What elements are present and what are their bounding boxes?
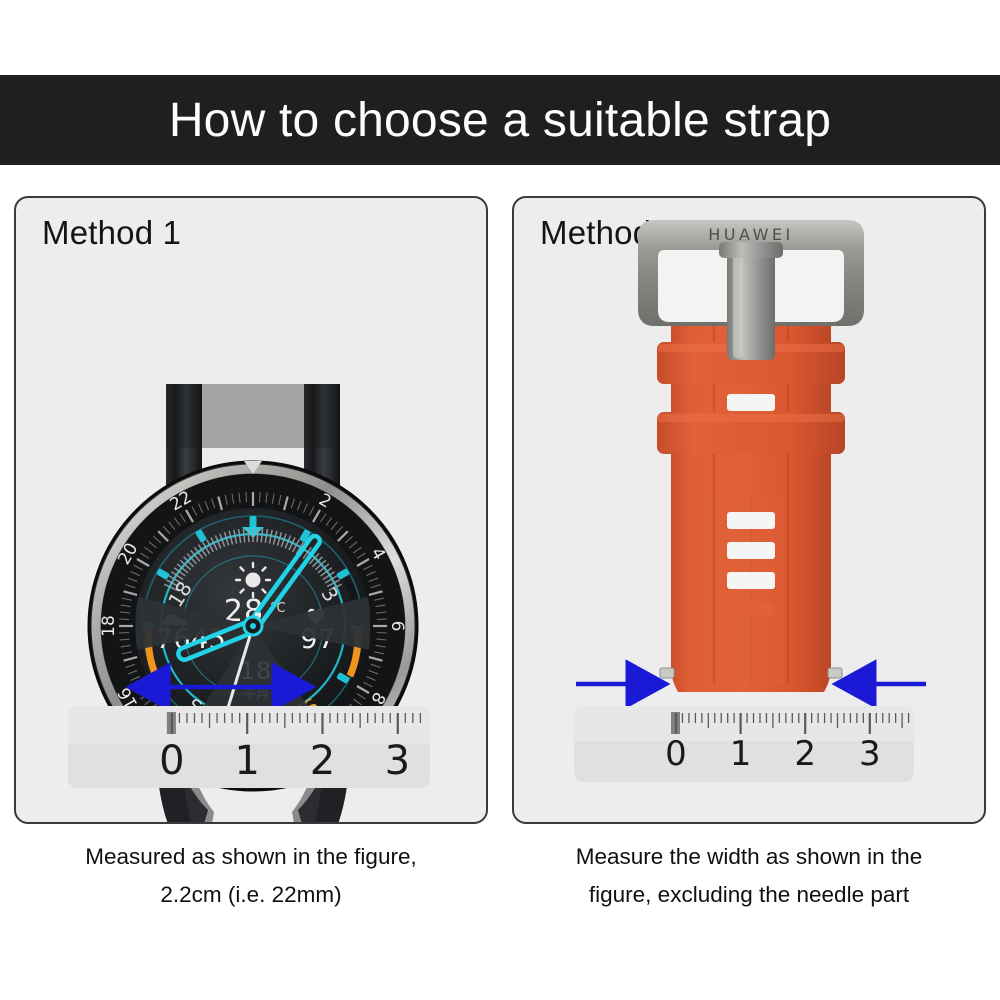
caption-line-2: figure, excluding the needle part xyxy=(512,876,986,914)
panel-method-1: Method 1 xyxy=(14,196,488,824)
ruler-label-0: 0 xyxy=(665,734,687,774)
caption-method-1: Measured as shown in the figure, 2.2cm (… xyxy=(14,838,488,914)
header-bar: How to choose a suitable strap xyxy=(0,76,1000,164)
ruler-label-2: 2 xyxy=(310,738,335,784)
ruler-label-3: 3 xyxy=(859,734,881,774)
ruler-numbers-method-1: 0 1 2 3 xyxy=(68,738,430,784)
panel-method-2: Method 2 xyxy=(512,196,986,824)
ruler-label-1: 1 xyxy=(730,734,752,774)
ruler-method-1: 0 1 2 3 xyxy=(68,706,430,788)
caption-line-1: Measure the width as shown in the xyxy=(512,838,986,876)
ruler-label-1: 1 xyxy=(234,738,259,784)
caption-line-2: 2.2cm (i.e. 22mm) xyxy=(14,876,488,914)
ruler-method-2: 0 1 2 3 xyxy=(574,706,914,782)
caption-method-2: Measure the width as shown in the figure… xyxy=(512,838,986,914)
ruler-numbers-method-2: 0 1 2 3 xyxy=(574,734,914,778)
page-title: How to choose a suitable strap xyxy=(169,93,831,148)
caption-line-1: Measured as shown in the figure, xyxy=(14,838,488,876)
methods-container: Method 1 xyxy=(0,196,1000,826)
ruler-label-0: 0 xyxy=(159,738,184,784)
ruler-label-3: 3 xyxy=(385,738,410,784)
ruler-label-2: 2 xyxy=(794,734,816,774)
